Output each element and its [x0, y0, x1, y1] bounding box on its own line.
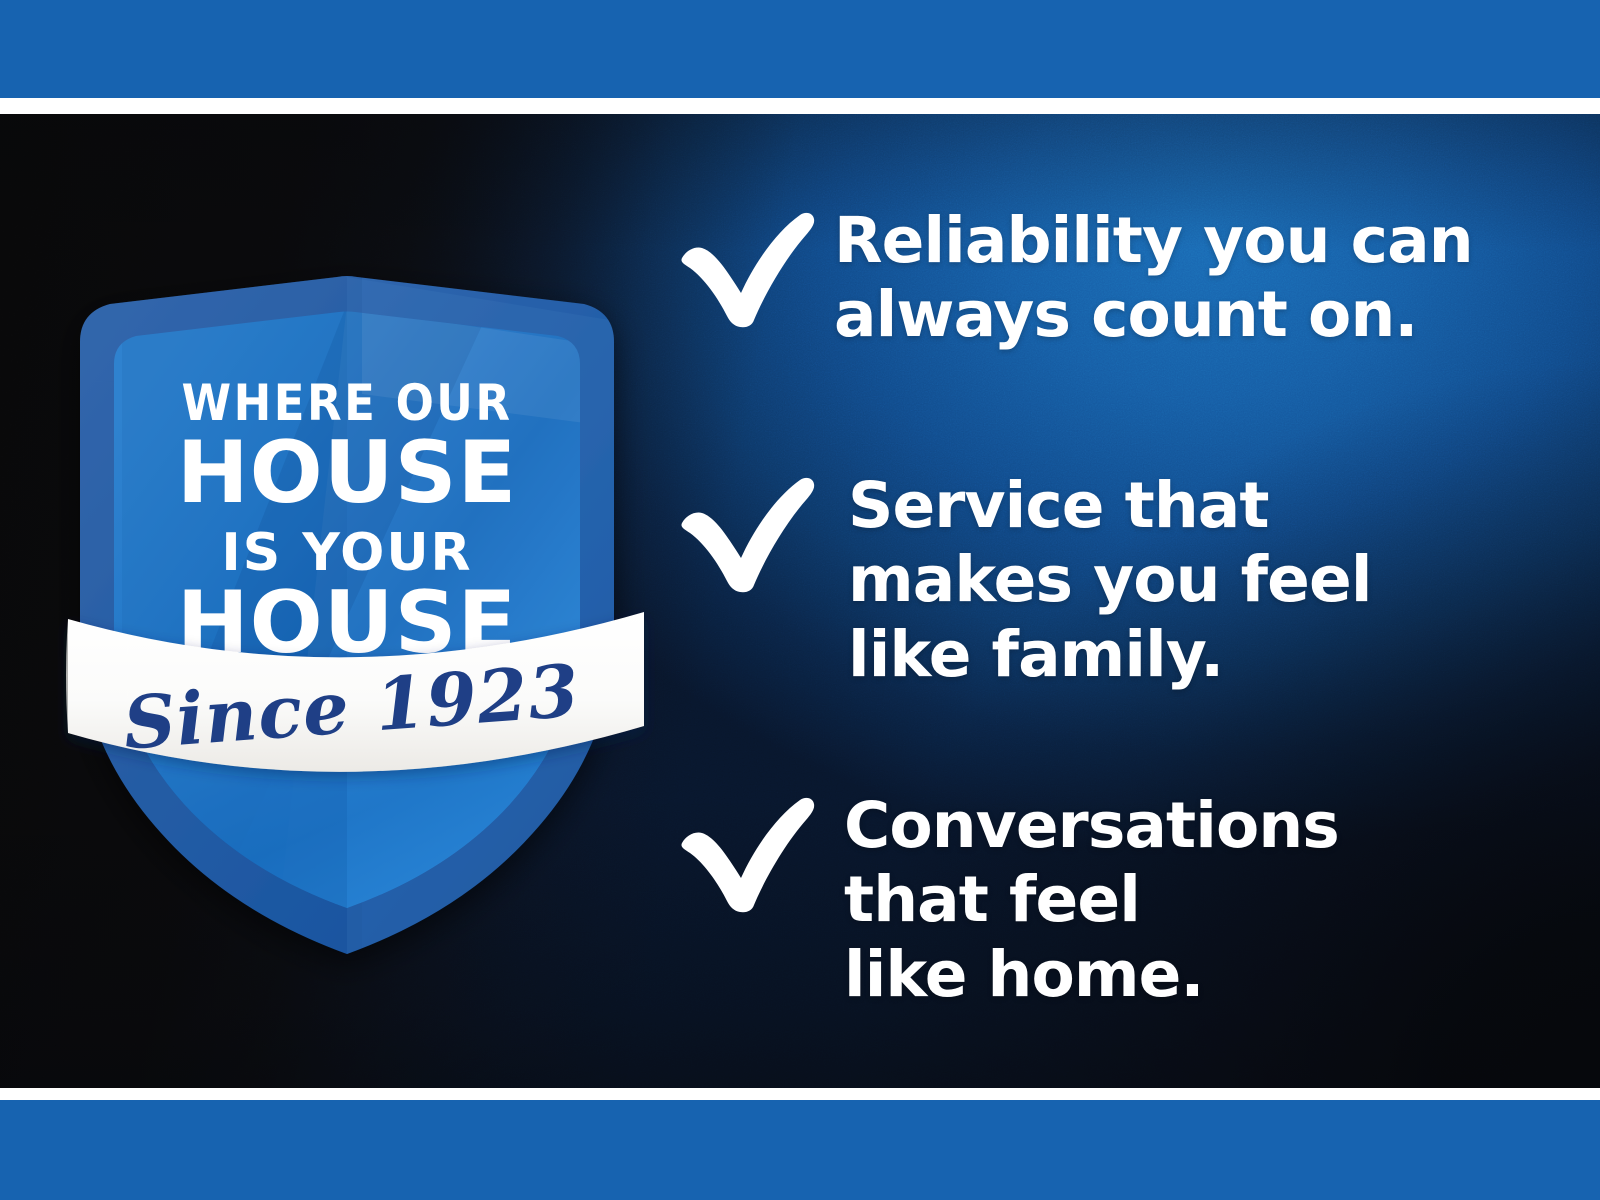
benefit-item-3: Conversations that feel like home. — [672, 789, 1339, 1012]
benefit-text-1: Reliability you can always count on. — [822, 204, 1473, 353]
checkmark-icon — [672, 210, 822, 328]
benefit-text-3: Conversations that feel like home. — [822, 789, 1339, 1012]
benefit-text-2: Service that makes you feel like family. — [822, 469, 1372, 692]
bottom-brand-bar — [0, 1100, 1600, 1200]
checkmark-icon — [672, 475, 822, 593]
benefit-item-1: Reliability you can always count on. — [672, 204, 1473, 353]
benefit-item-2: Service that makes you feel like family. — [672, 469, 1372, 692]
checkmark-icon — [672, 795, 822, 913]
artwork-stage: WHERE OUR HOUSE IS YOUR HOUSE Since 1923 — [0, 114, 1600, 1088]
logo-line-2: HOUSE — [177, 423, 518, 523]
promo-graphic-canvas: WHERE OUR HOUSE IS YOUR HOUSE Since 1923 — [0, 0, 1600, 1200]
shield-wordmark: WHERE OUR HOUSE IS YOUR HOUSE — [177, 374, 518, 673]
bottom-white-divider — [0, 1088, 1600, 1100]
company-shield-logo: WHERE OUR HOUSE IS YOUR HOUSE Since 1923 — [62, 274, 632, 964]
top-white-divider — [0, 98, 1600, 114]
top-brand-bar — [0, 0, 1600, 98]
